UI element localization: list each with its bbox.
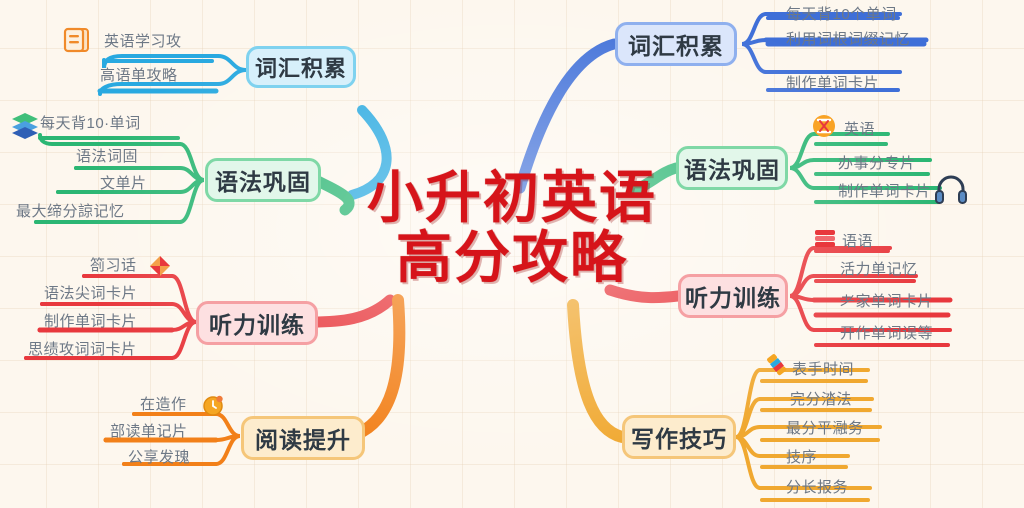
leaf-listening-left-1[interactable]: 箚习话 — [90, 254, 137, 275]
leaf-vocab-left-1[interactable]: 英语学习攻 — [104, 30, 182, 51]
notebook-icon — [62, 26, 92, 56]
leaf-grammar-right-3[interactable]: 制作单词卡片 — [838, 180, 931, 201]
leaf-vocab-right-3[interactable]: 制作单词卡片 — [786, 72, 879, 93]
leaf-writing-right-1[interactable]: 表手时间 — [792, 358, 854, 379]
leaf-writing-right-5[interactable]: 分长报务 — [786, 476, 848, 497]
leaf-grammar-left-2[interactable]: 语法词固 — [76, 145, 138, 166]
node-listening-left[interactable]: 听力训练 — [196, 301, 318, 345]
leaf-grammar-left-1[interactable]: 每天背10·单词 — [40, 112, 141, 133]
node-reading-left[interactable]: 阅读提升 — [241, 416, 365, 460]
leaf-listening-left-3[interactable]: 制作单词卡片 — [44, 310, 137, 331]
node-grammar-left[interactable]: 语法巩固 — [205, 158, 321, 202]
orange-badge-icon — [812, 114, 836, 138]
node-writing-right[interactable]: 写作技巧 — [622, 415, 736, 459]
leaf-reading-left-2[interactable]: 部读单记片 — [110, 420, 188, 441]
node-listening-left-label: 听力训练 — [209, 306, 305, 340]
leaf-listening-right-1[interactable]: 语语 — [842, 230, 873, 251]
leaf-listening-left-4[interactable]: 思绩攻词词卡片 — [28, 338, 137, 359]
node-vocab-right[interactable]: 词汇积累 — [615, 22, 737, 66]
leaf-writing-right-3[interactable]: 最分平瀜务 — [786, 417, 864, 438]
red-books-icon — [812, 226, 838, 252]
leaf-reading-left-1[interactable]: 在造作 — [140, 393, 187, 414]
node-writing-right-label: 写作技巧 — [631, 420, 727, 454]
leaf-vocab-right-2[interactable]: 利用词根词缀记忆 — [786, 28, 910, 49]
leaf-grammar-right-1[interactable]: 英语 — [844, 118, 875, 139]
eraser-icon — [764, 352, 790, 378]
leaf-writing-right-2[interactable]: 完分涾法 — [790, 388, 852, 409]
books-stack-icon — [10, 110, 40, 140]
headphones-icon — [934, 172, 968, 206]
leaf-listening-left-2[interactable]: 语法尖词卡片 — [44, 282, 137, 303]
wire-vocab-left-hub — [218, 56, 246, 84]
wire-grammar-left-hub — [180, 144, 204, 222]
node-grammar-right-label: 语法巩固 — [684, 151, 780, 185]
node-vocab-right-label: 词汇积累 — [628, 27, 724, 61]
wire-vocab-right-hub — [742, 14, 766, 72]
wire-writing-right-hub — [736, 370, 760, 488]
leaf-listening-right-3[interactable]: 耂家单词卡片 — [840, 290, 933, 311]
leaf-reading-left-3[interactable]: 公享发瑰 — [128, 446, 190, 467]
leaf-grammar-left-4[interactable]: 最大缔分諒记忆 — [16, 200, 125, 221]
center-title-line1: 小升初英语 — [367, 166, 657, 229]
wire-listening-right-hub — [790, 248, 814, 330]
leaf-listening-right-2[interactable]: 活力单记忆 — [840, 258, 918, 279]
leaf-grammar-right-2[interactable]: 办事分专片 — [838, 152, 916, 173]
node-grammar-left-label: 语法巩固 — [215, 163, 311, 197]
node-reading-left-label: 阅读提升 — [255, 421, 351, 455]
leaf-vocab-right-1[interactable]: 每天背10个单词 — [786, 3, 897, 24]
node-vocab-left[interactable]: 词汇积累 — [246, 46, 356, 88]
leaf-listening-right-4[interactable]: 开作单词误等 — [840, 322, 933, 343]
diamond-icon — [148, 254, 172, 278]
trunk-listening-right — [610, 290, 678, 298]
leaf-grammar-left-3[interactable]: 文单片 — [100, 172, 147, 193]
center-title: 小升初英语 高分攻略 — [326, 168, 698, 289]
mindmap-canvas: 小升初英语 高分攻略 词汇积累 语法巩固 听力训练 阅读提升 词汇积累 语法巩固… — [0, 0, 1024, 508]
leaf-vocab-left-2[interactable]: 高语单攻略 — [100, 64, 178, 85]
trunk-writing-right — [573, 305, 622, 437]
leaf-writing-right-4[interactable]: 技序 — [786, 446, 817, 467]
wire-grammar-right-hub — [790, 134, 814, 188]
wire-listening-left-hub — [172, 276, 196, 358]
node-vocab-left-label: 词汇积累 — [255, 51, 347, 83]
center-title-line2: 高分攻略 — [326, 228, 698, 288]
wire-reading-left-hub — [216, 414, 240, 464]
node-listening-right-label: 听力训练 — [685, 279, 781, 313]
alarm-clock-icon — [200, 392, 226, 418]
trunk-listening-left — [312, 300, 390, 322]
